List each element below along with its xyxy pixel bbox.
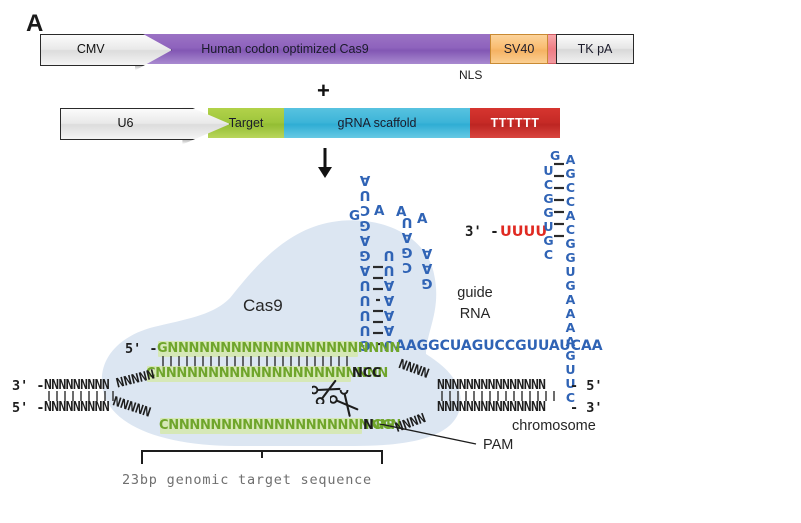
loop-base-g: G <box>349 208 360 224</box>
loop-base-a3: A <box>417 211 427 227</box>
pam-leader-line <box>380 424 480 446</box>
terminator-segment: TTTTTT <box>470 108 560 138</box>
chromosome-left-top-curve: NNNNN <box>115 367 157 391</box>
dna-three-prime-left: 3' - <box>12 378 45 394</box>
chromosome-right-bottom-strand: NNNNNNNNNNNNNNN <box>437 400 545 415</box>
chromosome-left-bottom-strand: NNNNNNNNN <box>44 400 109 415</box>
loop-strand-cgau: CGAU <box>399 219 415 275</box>
dna-five-prime-left-top: 5' - <box>125 341 158 357</box>
arrow-head <box>318 167 332 178</box>
scaffold-linker-sequence: AAGGCUAGUCCGUUAUCAA <box>395 338 603 354</box>
nls-label: NLS <box>459 68 482 82</box>
guide-rna-label-line2: RNA <box>440 304 510 325</box>
repeat-strand-left: GUUUUAGAGCUA <box>357 219 373 353</box>
grna-construct: Target gRNA scaffold TTTTTT U6 <box>60 108 590 138</box>
linker-segment <box>548 34 556 64</box>
figure-canvas: A Human codon optimized Cas9 SV40 TK pA … <box>0 0 801 523</box>
dna-five-prime-left-bottom: 5' - <box>12 400 45 416</box>
cmv-promoter-arrow: CMV <box>40 34 170 64</box>
dna-five-prime-right: - 5' <box>570 378 603 394</box>
u6-label: U6 <box>60 108 191 138</box>
cas9-coding-label: Human codon optimized Cas9 <box>201 42 368 56</box>
target-span-bracket <box>140 448 384 466</box>
protospacer-top-strand: GNNNNNNNNNNNNNNNNNNNNNN <box>157 341 400 356</box>
terminator-label: TTTTTT <box>491 116 540 130</box>
hairpin-right-stem: AGCCACGGUGAAAAGUUC <box>563 152 578 342</box>
sv40-label: SV40 <box>504 42 535 56</box>
chromosome-right-top-curve: NNNN <box>396 357 431 382</box>
tkpa-segment: TK pA <box>556 34 634 64</box>
cmv-label: CMV <box>40 34 141 64</box>
down-arrow-icon <box>313 148 337 182</box>
chromosome-left-bottom-curve: NNNNN <box>111 394 153 420</box>
hairpin-basepair-dashes <box>553 160 565 244</box>
cas9-construct: Human codon optimized Cas9 SV40 TK pA CM… <box>40 34 610 64</box>
scaffold-segment: gRNA scaffold <box>284 108 470 138</box>
loop-base-a1: A <box>374 203 384 219</box>
cas9-label: Cas9 <box>243 296 283 316</box>
target-label: Target <box>229 116 264 130</box>
rna-three-prime-label: 3' - <box>465 224 499 240</box>
sv40-nls-segment: SV40 <box>490 34 548 64</box>
chromosome-label: chromosome <box>512 418 596 434</box>
guide-rna-label-line1: guide <box>440 283 510 304</box>
scissors-icon-bottom <box>330 390 360 418</box>
tkpa-label: TK pA <box>578 42 613 56</box>
guide-rna-label: guide RNA <box>440 283 510 325</box>
pam-label: PAM <box>483 437 513 453</box>
u6-promoter-arrow: U6 <box>60 108 228 138</box>
target-span-caption: 23bp genomic target sequence <box>122 472 372 488</box>
dna-three-prime-right: - 3' <box>570 400 603 416</box>
loop-base-a2: A <box>396 204 406 220</box>
loop-strand-gaa: GAA <box>419 247 435 291</box>
plus-sign: + <box>317 78 330 104</box>
scaffold-label: gRNA scaffold <box>338 116 417 130</box>
pam-complement-ncc: NCC <box>352 366 381 381</box>
